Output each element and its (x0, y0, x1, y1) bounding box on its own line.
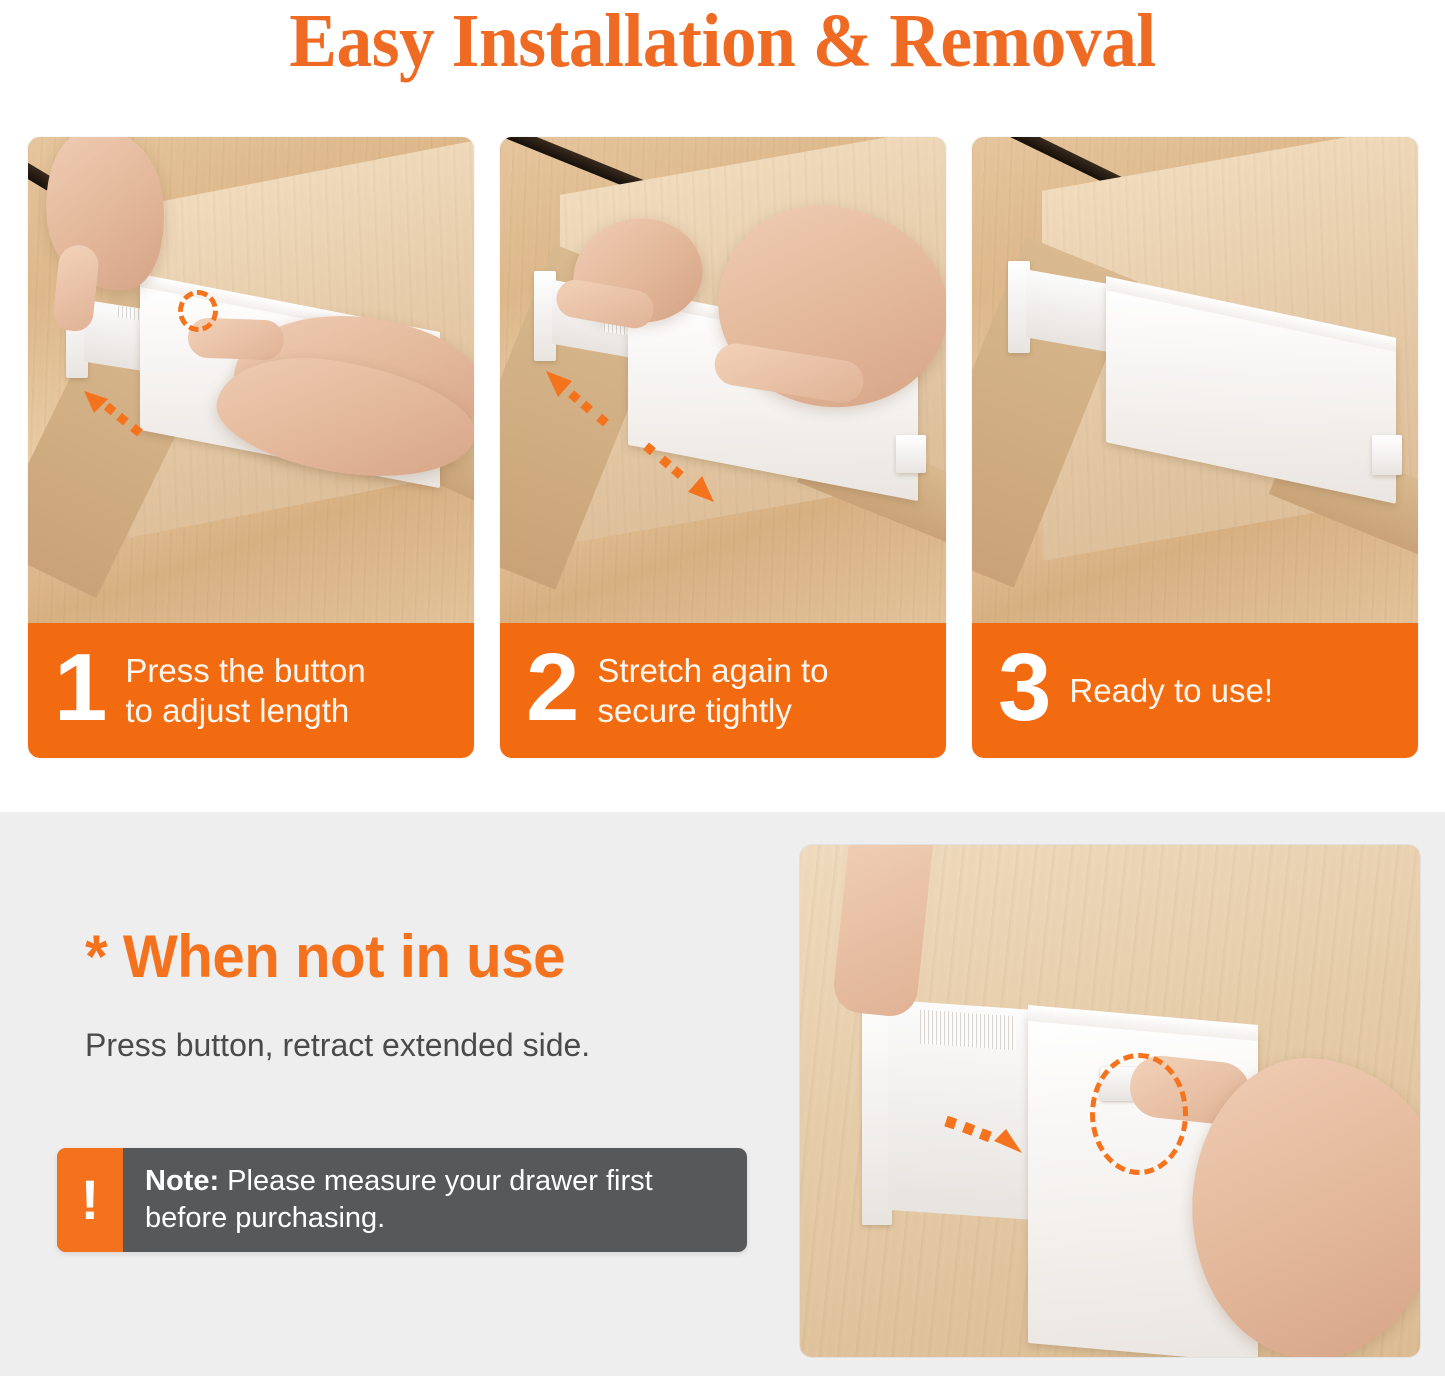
arrow-down-right-icon (640, 442, 720, 507)
when-not-in-use-description: Press button, retract extended side. (85, 1027, 765, 1064)
when-not-in-use-heading: * When not in use (85, 922, 745, 991)
step-3-number: 3 (998, 640, 1051, 736)
dashed-circle-highlight (178, 290, 218, 332)
divider-end-cap-right (896, 435, 926, 473)
when-not-in-use-section: * When not in use Press button, retract … (0, 812, 1445, 1376)
step-2-photo (500, 137, 946, 623)
step-2-number: 2 (526, 640, 579, 736)
step-1-caption-line2: to adjust length (125, 691, 365, 731)
step-3-photo (972, 137, 1418, 623)
arrow-left-icon (78, 387, 148, 437)
step-1-banner: 1 Press the button to adjust length (28, 623, 474, 758)
when-not-in-use-text-block: * When not in use Press button, retract … (85, 922, 765, 1064)
arrow-right-icon (940, 1113, 1028, 1163)
arrow-up-left-icon (542, 369, 612, 429)
step-card-1: 1 Press the button to adjust length (28, 137, 474, 758)
step-1-caption: Press the button to adjust length (125, 651, 365, 731)
step-1-photo (28, 137, 474, 623)
page-title: Easy Installation & Removal (43, 0, 1401, 85)
note-body: Please measure your drawer first before … (145, 1165, 653, 1234)
step-2-caption-line2: secure tightly (597, 691, 828, 731)
step-2-banner: 2 Stretch again to secure tightly (500, 623, 946, 758)
note-text: Note: Please measure your drawer first b… (123, 1148, 747, 1252)
step-3-caption: Ready to use! (1069, 671, 1273, 711)
divider-ridges (920, 1010, 1016, 1051)
step-1-caption-line1: Press the button (125, 651, 365, 691)
installation-section: Easy Installation & Removal (0, 0, 1445, 812)
exclamation-icon: ! (57, 1148, 123, 1252)
note-label: Note: (145, 1165, 219, 1197)
step-3-caption-line1: Ready to use! (1069, 671, 1273, 711)
dashed-circle-highlight (1090, 1053, 1188, 1175)
step-card-2: 2 Stretch again to secure tightly (500, 137, 946, 758)
step-2-caption-line1: Stretch again to (597, 651, 828, 691)
step-2-caption: Stretch again to secure tightly (597, 651, 828, 731)
note-banner: ! Note: Please measure your drawer first… (57, 1148, 747, 1252)
step-card-3: 3 Ready to use! (972, 137, 1418, 758)
steps-row: 1 Press the button to adjust length (28, 137, 1418, 758)
step-3-banner: 3 Ready to use! (972, 623, 1418, 758)
divider-end-cap-right (1372, 435, 1402, 475)
retract-photo (800, 845, 1420, 1357)
step-1-number: 1 (54, 640, 107, 736)
